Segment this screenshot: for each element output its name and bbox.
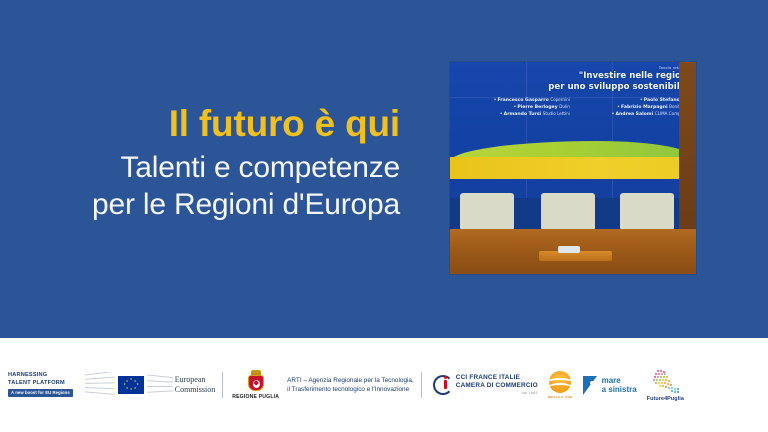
logo-cci-france-italie: CCI FRANCE ITALIE CAMERA DI COMMERCIO da… <box>433 374 538 397</box>
cci-c-shape <box>433 375 453 395</box>
headline-sub-line-2: per le Regioni d'Europa <box>0 187 400 224</box>
screen-speakers-left: •Francesco Gasparro Copernini •Pierre Be… <box>453 97 570 118</box>
logo-arti: ARTI – Agenzia Regionale per la Tecnolog… <box>285 376 414 395</box>
stage-screen: Tavola rotonda "Investire nelle regioni … <box>450 62 696 198</box>
cci-line-1: CCI FRANCE ITALIE <box>456 374 538 383</box>
sponsor-logo-bar: HARNESSING TALENT PLATFORM A new boost f… <box>0 338 768 432</box>
sail-triangle <box>583 376 597 395</box>
eu-line-2: Commission <box>175 385 215 395</box>
regione-puglia-label: REGIONE PUGLIA <box>232 394 279 400</box>
headline-block: Il futuro è qui Talenti e competenze per… <box>0 104 412 223</box>
logo-future4puglia: Future4Puglia <box>647 369 684 402</box>
speaker-entry: •Armando Tursi Studio Lettini <box>453 111 570 118</box>
puglia-crest-icon <box>248 370 264 392</box>
screen-title-line-1: "Investire nelle regioni <box>498 71 690 82</box>
htp-line-1: HARNESSING <box>8 372 73 380</box>
speaker-entry: •Francesco Gasparro Copernini <box>453 97 570 104</box>
speaker-entry: •Andrea Salomi CLIMA Companies <box>575 111 692 118</box>
mare-text: mare a sinistra <box>602 376 637 395</box>
screen-yellow-band <box>450 157 696 179</box>
sun-icon <box>549 371 571 393</box>
logo-european-commission: ★ ★ ★ ★ ★ ★ ★ ★ European Commission <box>85 372 215 398</box>
htp-line-2: TALENT PLATFORM <box>8 380 73 388</box>
logo-regione-puglia: REGIONE PUGLIA <box>232 370 279 400</box>
water-bottle <box>558 246 580 252</box>
cci-text: CCI FRANCE ITALIE CAMERA DI COMMERCIO da… <box>456 374 538 397</box>
future4puglia-label: Future4Puglia <box>647 396 684 402</box>
arti-line-2: il Trasferimento tecnologico e l'Innovaz… <box>287 385 414 394</box>
sail-dot <box>590 381 594 385</box>
logo-mare-a-sinistra: mare a sinistra <box>583 376 637 395</box>
cci-line-3: dal 1885 <box>456 391 538 396</box>
crest-shield <box>248 375 264 391</box>
arti-line-1: ARTI – Agenzia Regionale per la Tecnolog… <box>287 376 414 385</box>
chair <box>460 193 514 229</box>
eu-commission-text: European Commission <box>175 375 215 396</box>
eu-line-1: European <box>175 375 215 385</box>
sail-icon <box>583 376 600 395</box>
htp-text: HARNESSING TALENT PLATFORM A new boost f… <box>8 372 73 397</box>
eu-swoosh-left-icon <box>85 372 115 398</box>
logo-divider <box>222 372 223 398</box>
screen-title: "Investire nelle regioni per uno svilupp… <box>498 71 690 92</box>
logo-harnessing-talent-platform: HARNESSING TALENT PLATFORM A new boost f… <box>8 372 73 397</box>
screen-title-line-2: per uno sviluppo sostenibile" <box>498 82 690 93</box>
panel-discussion-photo: Tavola rotonda "Investire nelle regioni … <box>450 62 696 274</box>
mare-line-2: a sinistra <box>602 385 637 394</box>
cci-monogram-icon <box>433 375 453 395</box>
eu-swoosh-right-icon <box>147 372 173 398</box>
logo-sun: BRILLA IL SUD <box>548 371 573 399</box>
mare-line-1: mare <box>602 376 637 385</box>
puglia-dot-map-icon <box>647 369 683 395</box>
sun-logo-label: BRILLA IL SUD <box>548 395 573 399</box>
cci-i-shape <box>444 380 447 389</box>
stage-wall <box>679 62 696 232</box>
eu-flag-icon: ★ ★ ★ ★ ★ ★ ★ ★ <box>118 376 144 394</box>
htp-tagline: A new boost for EU Regions <box>8 389 73 397</box>
arti-text: ARTI – Agenzia Regionale per la Tecnolog… <box>287 376 414 395</box>
sun-arc-lower <box>549 383 571 393</box>
screen-speaker-columns: •Francesco Gasparro Copernini •Pierre Be… <box>453 97 692 118</box>
logo-divider <box>421 372 422 398</box>
cci-line-2: CAMERA DI COMMERCIO <box>456 382 538 391</box>
chair <box>620 193 674 229</box>
chair <box>541 193 595 229</box>
headline-main: Il futuro è qui <box>0 104 400 144</box>
presentation-slide: Il futuro è qui Talenti e competenze per… <box>0 0 768 432</box>
headline-sub-line-1: Talenti e competenze <box>0 150 400 187</box>
screen-speakers-right: •Paolo Stefano B-HC •Fabrizio Marpagni B… <box>575 97 692 118</box>
